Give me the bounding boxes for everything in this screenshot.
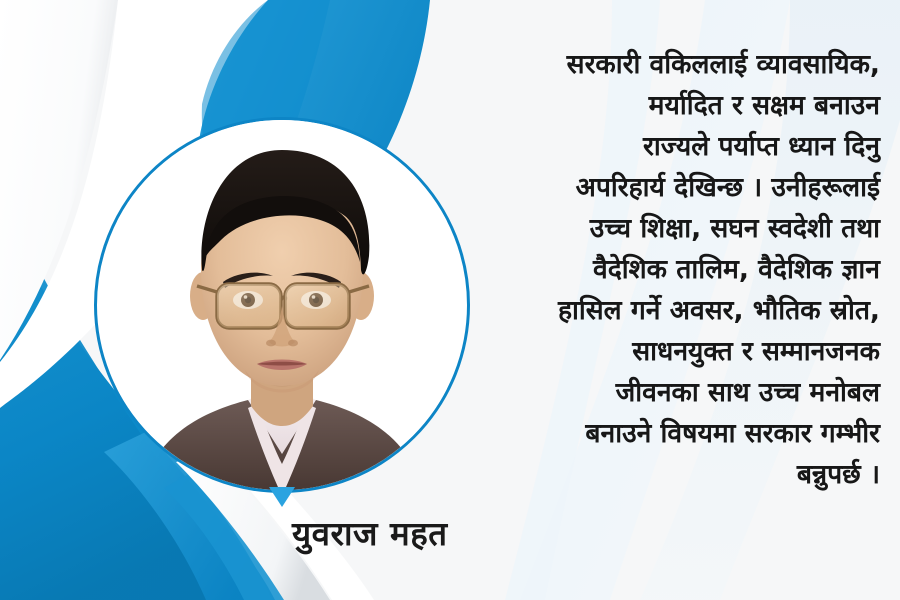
quote-line: हासिल गर्ने अवसर, भौतिक स्रोत,: [488, 290, 880, 331]
triangle-down-icon: [269, 487, 295, 507]
quote-line: अपरिहार्य देखिन्छ । उनीहरूलाई: [488, 167, 880, 208]
quote-line: राज्यले पर्याप्त ध्यान दिनु: [488, 126, 880, 167]
quote-line: मर्यादित र सक्षम बनाउन: [488, 85, 880, 126]
quote-line: उच्च शिक्षा, सघन स्वदेशी तथा: [488, 208, 880, 249]
quote-line: सरकारी वकिललाई व्यावसायिक,: [488, 44, 880, 85]
portrait: [94, 117, 470, 493]
person-name: युवराज महत: [292, 510, 448, 555]
portrait-photo: [117, 120, 447, 493]
quote-line: साधनयुक्त र सम्मानजनक: [488, 331, 880, 372]
quote-line: बनाउने विषयमा सरकार गम्भीर: [488, 413, 880, 454]
quote-text: सरकारी वकिललाई व्यावसायिक, मर्यादित र सक…: [488, 44, 880, 495]
quote-line: बन्नुपर्छ ।: [488, 454, 880, 495]
portrait-ring: [94, 117, 470, 493]
quote-line: जीवनका साथ उच्च मनोबल: [488, 372, 880, 413]
quote-card: युवराज महत सरकारी वकिललाई व्यावसायिक, मर…: [0, 0, 900, 600]
quote-line: वैदेशिक तालिम, वैदेशिक ज्ञान: [488, 249, 880, 290]
